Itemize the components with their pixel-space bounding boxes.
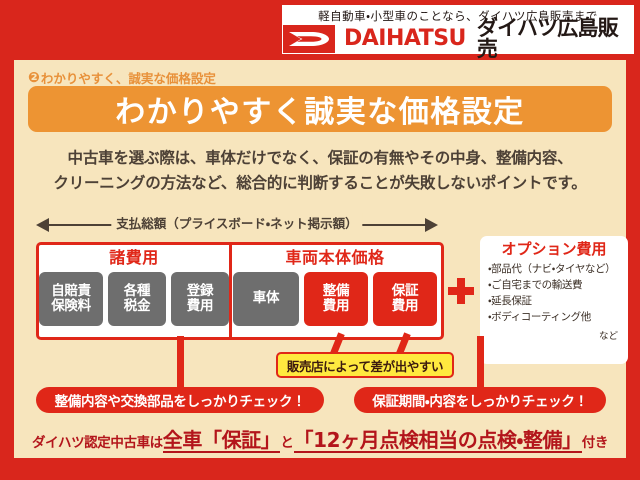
list-item: ・ご自宅までの輸送費 (488, 278, 620, 294)
advertisement-page: 軽自動車・小型車のことなら、ダイハツ広島販売まで DAIHATSU ダイハツ広島… (0, 0, 640, 480)
section-eyebrow-label: わかりやすく、誠実な価格設定 (41, 68, 216, 87)
section-number-badge: ❷ (28, 71, 40, 85)
brand-name-latin: DAIHATSU (335, 28, 466, 50)
options-note: など (488, 326, 620, 342)
cost-group-vehicle-heading: 車両本体価格 (232, 245, 438, 266)
brand-name-jp: ダイハツ広島販売 (466, 18, 633, 60)
check-banner-maintenance: 整備内容や交換部品をしっかりチェック！ (36, 387, 324, 413)
lede-line-2: クリーニングの方法など、総合的に判断することが失敗しないポイントです。 (14, 171, 626, 196)
options-cost-card: オプション費用 ・部品代（ナビ・タイヤなど） ・ご自宅までの輸送費 ・延長保証 … (480, 236, 628, 364)
lede-paragraph: 中古車を選ぶ際は、車体だけでなく、保証の有無やその中身、整備内容、 クリーニング… (14, 146, 626, 196)
daihatsu-d-mark-icon (283, 25, 335, 53)
footer-strip: ダイハツ認定中古車は 全車「保証」 と 「12ヶ月点検相当の点検・整備」 付き (14, 424, 626, 458)
plus-icon (448, 278, 474, 304)
content-panel: ❷ わかりやすく、誠実な価格設定 わかりやすく誠実な価格設定 中古車を選ぶ際は、… (14, 60, 626, 424)
options-heading: オプション費用 (488, 242, 620, 262)
chip-registration-fee: 登録 費用 (171, 272, 229, 326)
footer-prefix: ダイハツ認定中古車は (32, 431, 163, 451)
chip-liability-insurance: 自賠責 保険料 (39, 272, 103, 326)
list-item: ・部品代（ナビ・タイヤなど） (488, 262, 620, 278)
cost-group-vehicle: 車両本体価格 車体 整備 費用 保証 費用 (232, 245, 438, 337)
check-banner-warranty: 保証期間・内容をしっかりチェック！ (354, 387, 606, 413)
cost-breakdown-box: 諸費用 自賠責 保険料 各種 税金 登録 費用 車両本体価格 車体 整備 費用 … (36, 242, 444, 340)
arrow-left-icon (36, 218, 49, 232)
stem-line-left-check (177, 336, 184, 390)
options-list: ・部品代（ナビ・タイヤなど） ・ご自宅までの輸送費 ・延長保証 ・ボディコーティ… (488, 262, 620, 326)
chip-taxes: 各種 税金 (108, 272, 166, 326)
cost-group-fees-chips: 自賠責 保険料 各種 税金 登録 費用 (39, 266, 229, 326)
stem-line-right-check (477, 336, 484, 390)
footer-message: ダイハツ認定中古車は 全車「保証」 と 「12ヶ月点検相当の点検・整備」 付き (32, 429, 608, 453)
arrow-right-icon (425, 218, 438, 232)
list-item: ・延長保証 (488, 294, 620, 310)
page-title: わかりやすく誠実な価格設定 (28, 86, 612, 132)
cost-group-vehicle-chips: 車体 整備 費用 保証 費用 (232, 266, 438, 326)
header-bar: 軽自動車・小型車のことなら、ダイハツ広島販売まで DAIHATSU ダイハツ広島… (0, 0, 640, 58)
brand-logo-block: 軽自動車・小型車のことなら、ダイハツ広島販売まで DAIHATSU ダイハツ広島… (282, 5, 634, 54)
brand-logo-row: DAIHATSU ダイハツ広島販売 (283, 25, 633, 53)
cost-group-fees: 諸費用 自賠責 保険料 各種 税金 登録 費用 (39, 245, 232, 337)
footer-emphasis-inspection: 「12ヶ月点検相当の点検・整備」 (294, 429, 582, 453)
cost-group-fees-heading: 諸費用 (39, 245, 229, 266)
footer-suffix: 付き (582, 431, 608, 451)
chip-vehicle-body: 車体 (233, 272, 299, 326)
total-payment-span: 支払総額（プライスボード・ネット掲示額） (36, 215, 438, 235)
footer-emphasis-warranty: 全車「保証」 (163, 429, 281, 453)
lede-line-1: 中古車を選ぶ際は、車体だけでなく、保証の有無やその中身、整備内容、 (14, 146, 626, 171)
total-payment-label: 支払総額（プライスボード・ネット掲示額） (111, 213, 362, 232)
section-eyebrow: ❷ わかりやすく、誠実な価格設定 (28, 68, 216, 87)
chip-maintenance-fee: 整備 費用 (304, 272, 368, 326)
variance-callout: 販売店によって差が出やすい (276, 352, 454, 378)
footer-conjunction: と (280, 431, 293, 451)
list-item: ・ボディコーティング他 (488, 310, 620, 326)
chip-warranty-fee: 保証 費用 (373, 272, 437, 326)
